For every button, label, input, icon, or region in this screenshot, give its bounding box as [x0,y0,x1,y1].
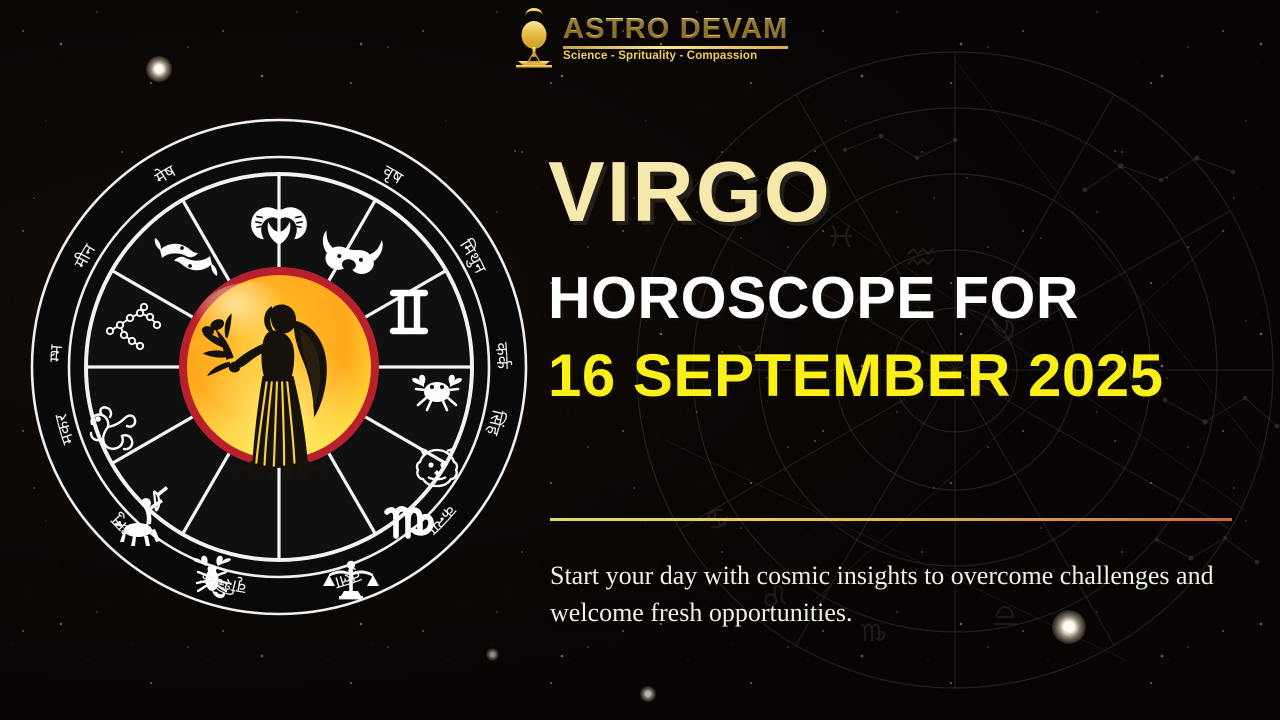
poster-canvas: ASTRO DEVAM Science - Sprituality - Comp… [0,0,1280,720]
headline-block: VIRGO HOROSCOPE FOR 16 SEPTEMBER 2025 [548,150,1248,406]
page-title-sign: VIRGO [548,150,1248,235]
bright-star-icon [146,56,172,82]
brand-logo-text: ASTRO DEVAM Science - Sprituality - Comp… [563,15,788,63]
brand-rule [563,46,788,49]
bright-star-icon [486,648,499,661]
subtitle-text: Start your day with cosmic insights to o… [550,558,1230,632]
brand-name: ASTRO DEVAM [563,15,788,44]
brand-tagline: Science - Sprituality - Compassion [563,51,788,63]
divider-rule [550,518,1232,521]
page-title-line2: HOROSCOPE FOR [548,269,1248,328]
page-title-date: 16 SEPTEMBER 2025 [548,346,1248,406]
zodiac-wheel[interactable]: मेष वृष मिथुन मीन कर्कट कुम्भ सिंह कन् [24,112,534,622]
brand-logo[interactable]: ASTRO DEVAM Science - Sprituality - Comp… [512,8,788,70]
mercury-kalash-icon [512,8,556,70]
bright-star-icon [640,686,656,702]
